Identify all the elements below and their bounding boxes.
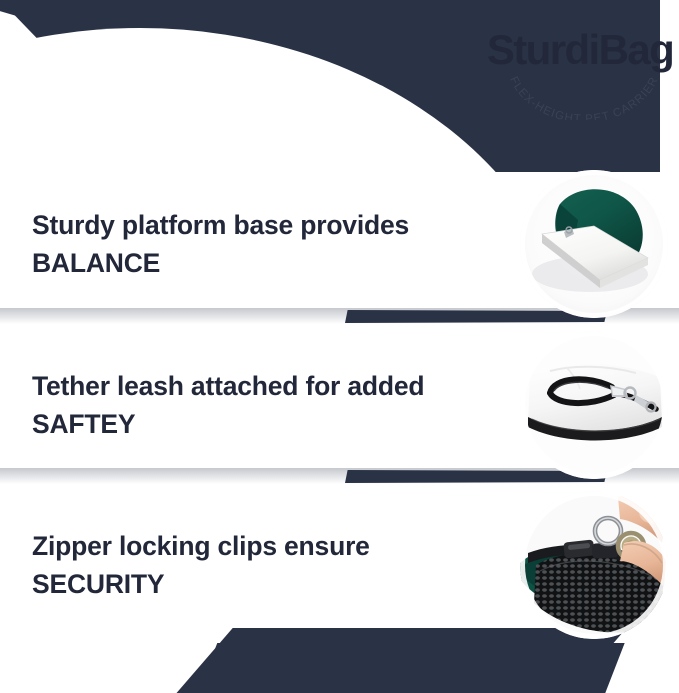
- black-tether-leash-on-white-bag-photo: [520, 331, 668, 479]
- feature-3-line-2: SECURITY: [32, 566, 370, 604]
- feature-2-thumbnail: [520, 331, 668, 479]
- infographic-canvas: Sturdy platform base provides BALANCE Te…: [0, 0, 679, 693]
- feature-2-text: Tether leash attached for added SAFTEY: [32, 368, 424, 443]
- feature-1-line-1: Sturdy platform base provides: [32, 207, 409, 245]
- zipper-locking-clips-held-in-hand-photo: [520, 491, 668, 639]
- feature-1-text: Sturdy platform base provides BALANCE: [32, 207, 409, 282]
- feature-3-line-1: Zipper locking clips ensure: [32, 528, 370, 566]
- logo-wordmark: SturdiBag: [487, 26, 673, 73]
- sturdibag-logo: SturdiBag FLEX-HEIGHT PET CARRIER: [485, 2, 675, 120]
- feature-2-line-1: Tether leash attached for added: [32, 368, 424, 406]
- green-bag-with-white-platform-base-photo: [520, 170, 668, 318]
- feature-1-line-2: BALANCE: [32, 245, 409, 283]
- feature-3-thumbnail: [520, 491, 668, 639]
- feature-1-thumbnail: [520, 170, 668, 318]
- feature-3-text: Zipper locking clips ensure SECURITY: [32, 528, 370, 603]
- feature-2-line-2: SAFTEY: [32, 406, 424, 444]
- navy-bottom-fill-shape: [0, 643, 679, 693]
- logo-artwork: SturdiBag FLEX-HEIGHT PET CARRIER: [485, 2, 675, 120]
